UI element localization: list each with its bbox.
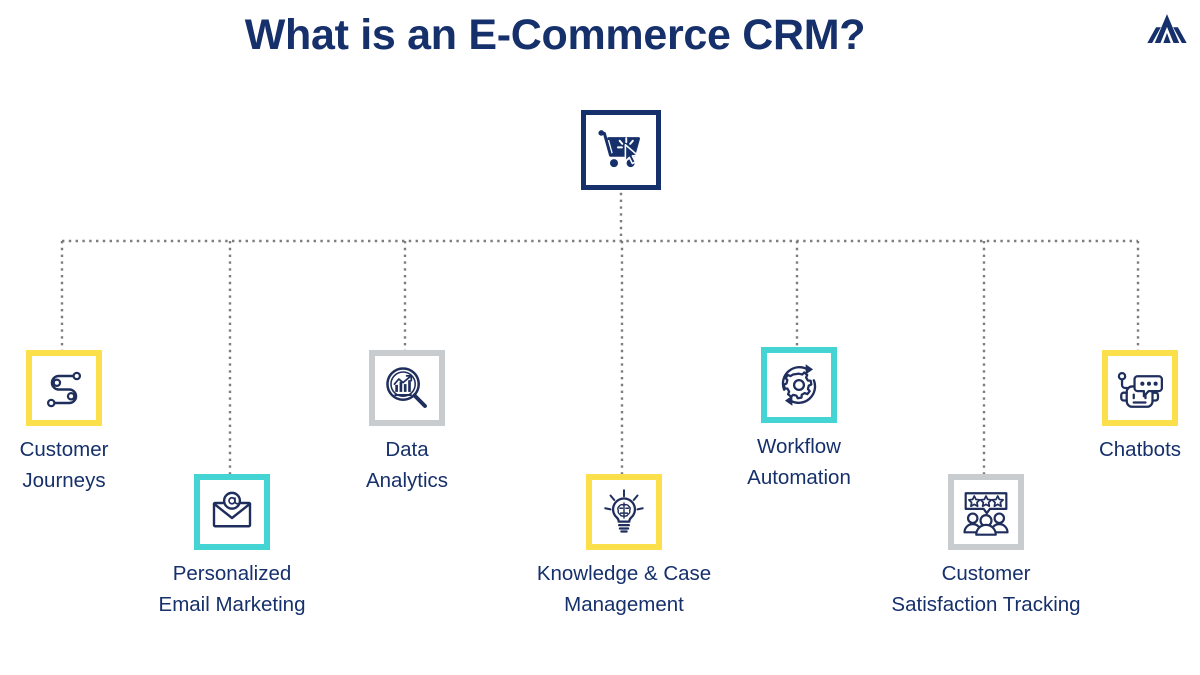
node-label-workflow-automation: Workflow Automation — [747, 431, 851, 493]
stars-review-people-icon — [961, 487, 1011, 537]
node-label-line2: Journeys — [20, 465, 109, 496]
node-box-data-analytics — [369, 350, 445, 426]
node-label-line1: Customer — [942, 562, 1031, 585]
page-title: What is an E-Commerce CRM? — [0, 10, 1110, 62]
node-customer-satisfaction-tracking[interactable]: Customer Satisfaction Tracking — [948, 474, 1024, 550]
root-node-box — [581, 110, 661, 190]
node-box-knowledge-case-management — [586, 474, 662, 550]
node-box-customer-satisfaction-tracking — [948, 474, 1024, 550]
slide-canvas: What is an E-Commerce CRM? — [0, 0, 1200, 675]
node-workflow-automation[interactable]: Workflow Automation — [761, 347, 837, 423]
node-box-customer-journeys — [26, 350, 102, 426]
root-node-ecommerce[interactable] — [581, 110, 661, 190]
node-label-line1: Customer — [20, 438, 109, 461]
node-label-line2: Email Marketing — [159, 589, 306, 620]
node-personalized-email-marketing[interactable]: Personalized Email Marketing — [194, 474, 270, 550]
node-label-personalized-email-marketing: Personalized Email Marketing — [159, 558, 306, 620]
node-label-knowledge-case-management: Knowledge & Case Management — [537, 558, 711, 620]
robot-chat-icon — [1115, 363, 1165, 413]
node-chatbots[interactable]: Chatbots — [1102, 350, 1178, 426]
journey-path-icon — [40, 364, 88, 412]
node-box-personalized-email-marketing — [194, 474, 270, 550]
node-label-line1: Workflow — [757, 435, 841, 458]
node-label-line2: Satisfaction Tracking — [891, 589, 1080, 620]
node-label-chatbots: Chatbots — [1099, 434, 1181, 465]
node-label-line1: Data — [385, 438, 428, 461]
node-label-line1: Personalized — [173, 562, 292, 585]
magnifier-chart-icon — [382, 363, 432, 413]
node-knowledge-case-management[interactable]: Knowledge & Case Management — [586, 474, 662, 550]
node-box-workflow-automation — [761, 347, 837, 423]
node-label-data-analytics: Data Analytics — [366, 434, 448, 496]
node-label-line1: Chatbots — [1099, 438, 1181, 461]
node-label-line2: Automation — [747, 462, 851, 493]
mountain-logo-icon — [1146, 8, 1188, 50]
gear-refresh-icon — [774, 360, 824, 410]
shopping-cart-click-icon — [593, 122, 649, 178]
node-label-line2: Analytics — [366, 465, 448, 496]
lightbulb-brain-icon — [600, 488, 648, 536]
node-box-chatbots — [1102, 350, 1178, 426]
node-label-line2: Management — [537, 589, 711, 620]
node-label-customer-journeys: Customer Journeys — [20, 434, 109, 496]
email-at-icon — [208, 488, 256, 536]
node-label-customer-satisfaction-tracking: Customer Satisfaction Tracking — [891, 558, 1080, 620]
node-customer-journeys[interactable]: Customer Journeys — [26, 350, 102, 426]
node-label-line1: Knowledge & Case — [537, 562, 711, 585]
node-data-analytics[interactable]: Data Analytics — [369, 350, 445, 426]
